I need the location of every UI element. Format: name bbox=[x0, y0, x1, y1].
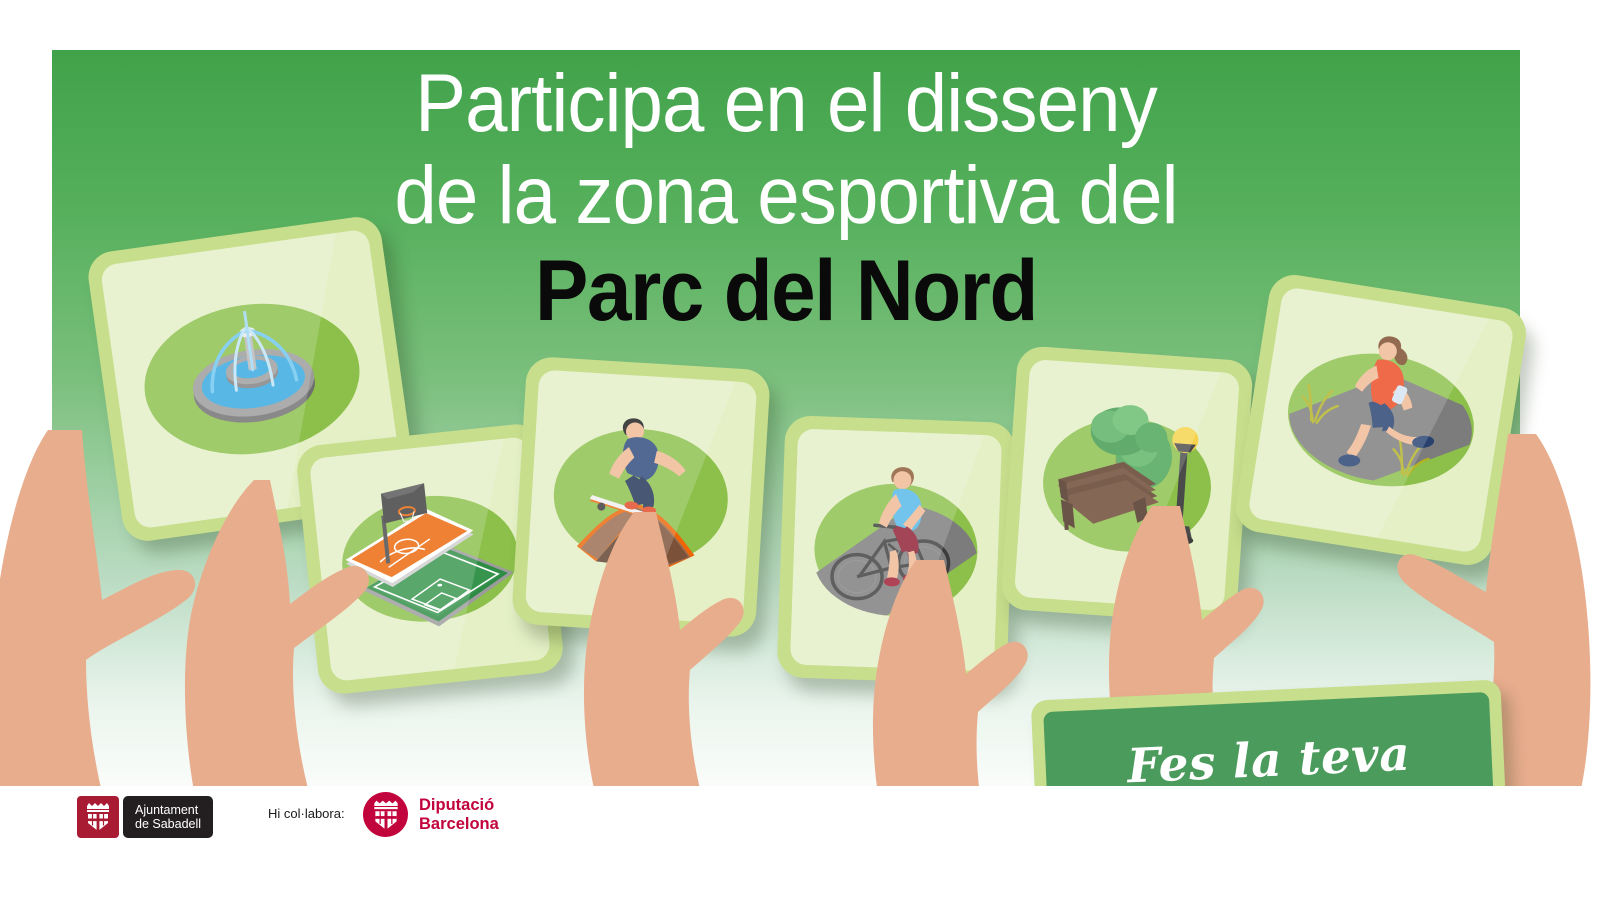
collaborator-label: Hi col·labora: bbox=[268, 806, 345, 821]
hand-left-2 bbox=[150, 480, 390, 810]
hand-middle-1 bbox=[556, 512, 766, 812]
diputacio-name: Diputació Barcelona bbox=[419, 796, 499, 833]
logo-ajuntament-sabadell[interactable]: Ajuntament de Sabadell bbox=[77, 796, 213, 838]
logo-diputacio-barcelona[interactable]: Diputació Barcelona bbox=[363, 792, 499, 837]
diputacio-seal-icon bbox=[363, 792, 408, 837]
sabadell-name-line-2: de Sabadell bbox=[135, 817, 201, 832]
sabadell-crest-icon bbox=[77, 796, 119, 838]
sabadell-name-line-1: Ajuntament bbox=[135, 803, 201, 818]
diputacio-name-line-2: Barcelona bbox=[419, 815, 499, 834]
sabadell-name-box: Ajuntament de Sabadell bbox=[123, 796, 213, 838]
footer-logos: Ajuntament de Sabadell Hi col·labora: Di… bbox=[0, 786, 1600, 900]
poster-canvas: Participa en el disseny de la zona espor… bbox=[0, 0, 1600, 900]
diputacio-name-line-1: Diputació bbox=[419, 796, 499, 815]
callout-line-1: Fes la teva bbox=[1126, 727, 1411, 795]
